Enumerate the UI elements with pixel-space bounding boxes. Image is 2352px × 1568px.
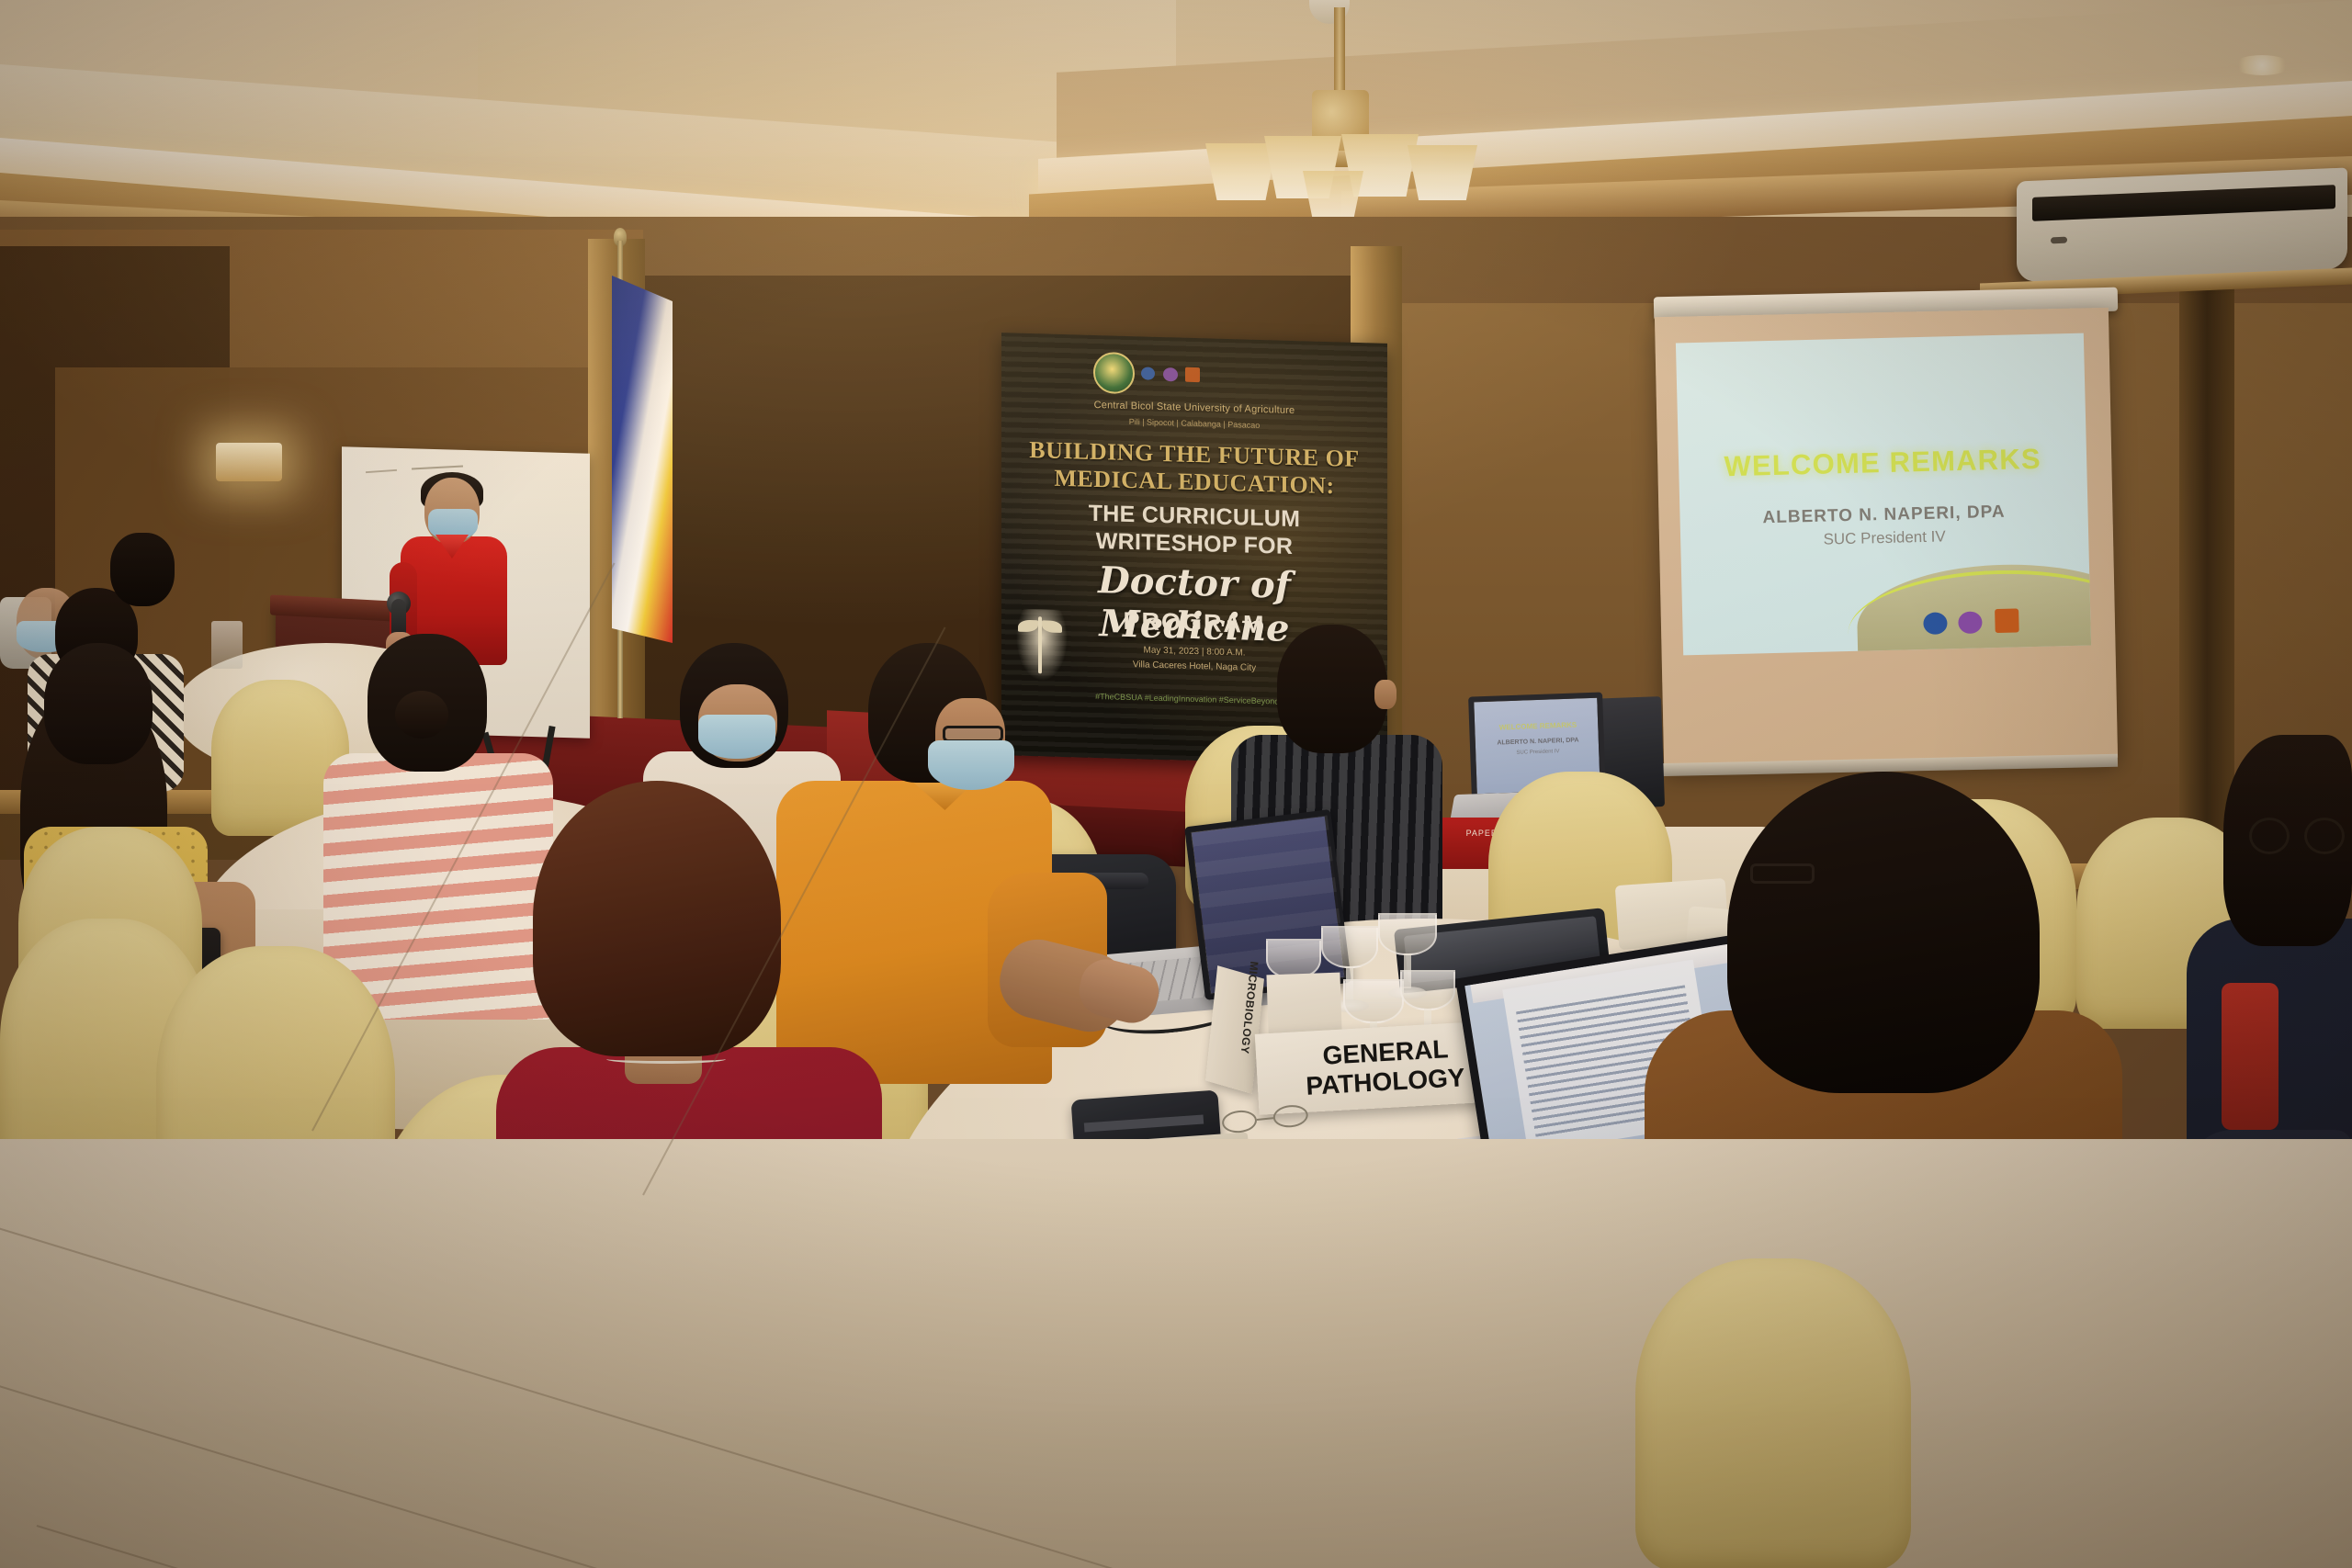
accreditation-logo-icon — [1163, 367, 1178, 381]
chair — [1635, 1258, 1911, 1568]
lamp-shade — [1205, 143, 1277, 200]
lamp-shade — [1303, 171, 1363, 219]
quality-logo-icon — [1185, 367, 1200, 382]
quality-logo-icon — [1995, 608, 2019, 633]
person-head — [110, 533, 175, 606]
caduceus-icon — [1016, 609, 1068, 682]
air-conditioner-led-icon — [2051, 237, 2067, 244]
photo-canvas: Central Bicol State University of Agricu… — [0, 0, 2352, 1568]
slide-title: WELCOME REMARKS — [1679, 442, 2087, 485]
iso-logo-icon — [1141, 367, 1155, 379]
philippine-flag — [612, 276, 673, 643]
tiled-floor — [0, 1139, 2352, 1568]
pillar-right — [2179, 230, 2234, 873]
face-mask-icon — [698, 715, 775, 759]
person-hair-bob — [533, 781, 781, 1056]
air-conditioner — [2017, 167, 2347, 282]
person-ear — [1374, 680, 1396, 709]
eyeglasses-icon — [2249, 818, 2346, 854]
water-glass — [211, 621, 243, 669]
face-mask-icon — [928, 740, 1014, 790]
university-seal-icon — [1093, 352, 1135, 394]
person-hair — [1727, 772, 2040, 1093]
lamp-shade — [1408, 145, 1477, 200]
person-head — [44, 643, 153, 764]
chandelier-main — [1204, 7, 1479, 228]
recessed-downlight-icon — [2233, 55, 2291, 75]
wall-sconce-light — [216, 443, 282, 481]
eyeglasses-icon — [1750, 863, 1815, 884]
projected-slide: WELCOME REMARKS ALBERTO N. NAPERI, DPA S… — [1676, 333, 2091, 656]
person-hair-bun — [395, 691, 448, 739]
person-head — [1277, 625, 1387, 753]
person-inner-top — [2222, 983, 2278, 1130]
